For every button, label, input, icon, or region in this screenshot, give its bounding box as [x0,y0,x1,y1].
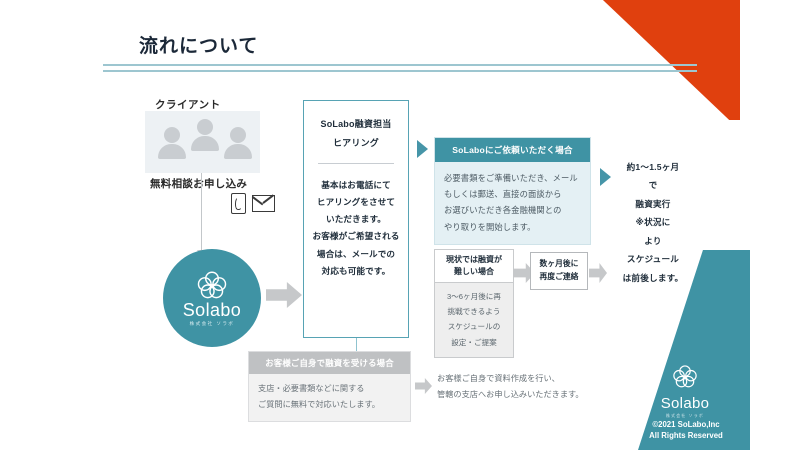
slide-canvas: 流れについて クライアント 無料相談お申し込み Solabo 株式会社 ソラボ [0,0,800,450]
result-column: 約1～1.5ヶ月 で 融資実行 ※状況に より スケジュール は前後します。 [612,158,694,287]
client-person-icon [157,127,187,159]
copyright-line1: ©2021 SoLabo,Inc [628,419,744,430]
result-line: スケジュール [612,250,694,268]
arrow-to-self-result [415,378,432,394]
request-case-body-line: やり取りを開始します。 [444,219,581,235]
request-case-card: SoLaboにご依頼いただく場合 必要書類をご準備いただき、メール もしくは郵送… [434,137,591,245]
free-consultation-label: 無料相談お申し込み [150,176,247,191]
solabo-logo-badge: Solabo 株式会社 ソラボ [163,249,261,347]
self-case-body-line: ご質問に無料で対応いたします。 [258,397,401,413]
self-case-result-line: 管轄の支店へお申し込みいただきます。 [437,387,622,403]
flow-arrow-to-hearing [266,282,302,308]
difficult-case-card: 現状では融資が 難しい場合 3～6ヶ月後に再 挑戦できるよう スケジュールの 設… [434,249,514,358]
contact-method-icons [231,193,275,214]
hearing-divider [318,163,394,164]
arrow-to-request-case [417,140,428,158]
result-line: 融資実行 [612,195,694,213]
solabo-flower-mark [671,363,699,389]
hearing-body-line: 基本はお電話にて [312,177,400,194]
hearing-body-line: いただきます。 [312,211,400,228]
result-line: で [612,176,694,194]
copyright-line2: All Rights Reserved [628,430,744,441]
arrow-recontact-to-result [589,263,607,283]
hearing-title-line1: SoLabo融資担当 [312,115,400,134]
result-line: ※状況に [612,213,694,231]
request-case-body-line: 必要書類をご準備いただき、メール [444,170,581,186]
recontact-line2: 再度ご連絡 [534,271,584,284]
client-label: クライアント [155,97,221,112]
hearing-title-line2: ヒアリング [312,134,400,153]
page-title: 流れについて [139,31,258,58]
request-case-header: SoLaboにご依頼いただく場合 [435,138,590,162]
difficult-case-body-line: 設定・ご提案 [440,335,508,350]
result-line: は前後します。 [612,269,694,287]
recontact-line1: 数ヶ月後に [534,258,584,271]
title-rule-lower [103,70,697,72]
difficult-case-body: 3～6ヶ月後に再 挑戦できるよう スケジュールの 設定・ご提案 [435,283,513,357]
result-line: より [612,232,694,250]
self-case-body-line: 支店・必要書類などに関する [258,381,401,397]
difficult-case-header-line2: 難しい場合 [437,266,511,278]
footer-logo-text: Solabo [648,396,722,411]
self-case-result-line: お客様ご自身で資料作成を行い、 [437,371,622,387]
phone-icon [231,193,246,214]
request-case-body-line: お選びいただき各金融機関との [444,202,581,218]
self-case-body: 支店・必要書類などに関する ご質問に無料で対応いたします。 [249,374,410,421]
arrow-to-result [600,168,611,186]
title-rule-upper [103,64,697,66]
hearing-body-line: ヒアリングをさせて [312,194,400,211]
self-case-card: お客様ご自身で融資を受ける場合 支店・必要書類などに関する ご質問に無料で対応い… [248,351,411,422]
client-flow-connector [201,173,202,255]
footer-logo: Solabo 株式会社 ソラボ [648,363,722,419]
self-case-result: お客様ご自身で資料作成を行い、 管轄の支店へお申し込みいただきます。 [437,371,622,404]
copyright-notice: ©2021 SoLabo,Inc All Rights Reserved [628,419,744,442]
request-case-body-line: もしくは郵送、直接の面談から [444,186,581,202]
recontact-card: 数ヶ月後に 再度ご連絡 [530,252,588,290]
result-line: 約1～1.5ヶ月 [612,158,694,176]
difficult-case-header: 現状では融資が 難しい場合 [435,250,513,283]
hearing-body-line: 対応も可能です。 [312,263,400,280]
difficult-case-body-line: スケジュールの [440,319,508,334]
solabo-logo-subtext: 株式会社 ソラボ [190,321,235,327]
orange-corner-decoration [586,0,740,120]
envelope-icon [252,195,275,212]
self-case-header: お客様ご自身で融資を受ける場合 [249,352,410,374]
request-case-body: 必要書類をご準備いただき、メール もしくは郵送、直接の面談から お選びいただき各… [435,162,590,244]
hearing-body-line: 場合は、メールでの [312,246,400,263]
hearing-body-line: お客様がご希望される [312,228,400,245]
difficult-case-body-line: 3～6ヶ月後に再 [440,289,508,304]
client-person-icon [223,127,253,159]
difficult-case-body-line: 挑戦できるよう [440,304,508,319]
solabo-flower-mark [195,269,229,300]
hearing-card: SoLabo融資担当 ヒアリング 基本はお電話にて ヒアリングをさせて いただき… [303,100,409,338]
solabo-logo-text: Solabo [183,301,241,319]
difficult-case-header-line1: 現状では融資が [437,254,511,266]
client-person-icon [190,119,220,151]
